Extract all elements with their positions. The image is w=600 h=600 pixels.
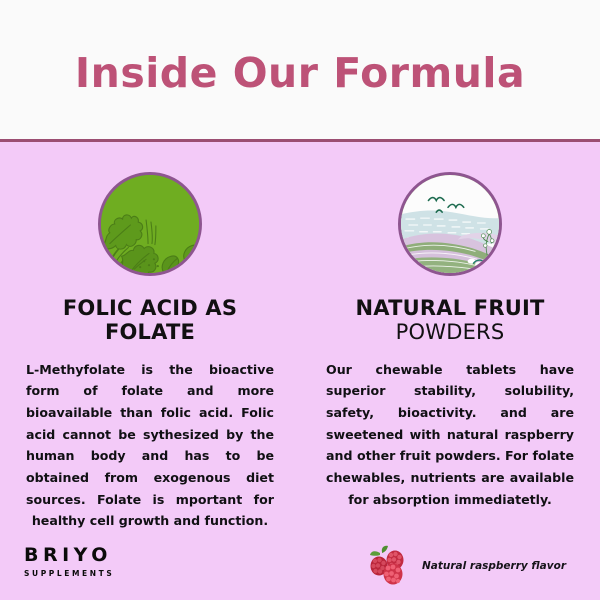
- card-title-line-1: NATURAL FRUIT: [356, 296, 545, 320]
- page-footer: BRIYO SUPPLEMENTS: [0, 528, 600, 600]
- card-title-natural-fruit: NATURAL FRUIT POWDERS: [356, 296, 545, 345]
- card-natural-fruit: NATURAL FRUIT POWDERS Our chewable table…: [300, 142, 600, 545]
- countryside-landscape-circle-image: [398, 172, 502, 276]
- raspberry-icon: [368, 544, 412, 588]
- card-title-folic-acid: FOLIC ACID AS FOLATE: [63, 296, 237, 345]
- leafy-greens-circle-image: [98, 172, 202, 276]
- flavor-label: Natural raspberry flavor: [422, 560, 566, 572]
- infographic-page: Inside Our Formula: [0, 0, 600, 600]
- card-body-natural-fruit: Our chewable tablets have superior stabi…: [326, 359, 574, 511]
- card-title-line-2: FOLATE: [63, 320, 237, 344]
- brand-logo: BRIYO SUPPLEMENTS: [24, 546, 114, 578]
- page-header: Inside Our Formula: [0, 0, 600, 139]
- flavor-callout: Natural raspberry flavor: [368, 544, 566, 588]
- card-folic-acid: FOLIC ACID AS FOLATE L-Methyfolate is th…: [0, 142, 300, 545]
- card-title-line-2: POWDERS: [356, 320, 545, 344]
- page-title: Inside Our Formula: [75, 43, 525, 97]
- brand-name: BRIYO: [24, 546, 114, 565]
- card-title-line-1: FOLIC ACID AS: [63, 296, 237, 320]
- card-body-folic-acid: L-Methyfolate is the bioactive form of f…: [26, 359, 274, 532]
- brand-tagline: SUPPLEMENTS: [24, 570, 114, 578]
- cards-row: FOLIC ACID AS FOLATE L-Methyfolate is th…: [0, 142, 600, 545]
